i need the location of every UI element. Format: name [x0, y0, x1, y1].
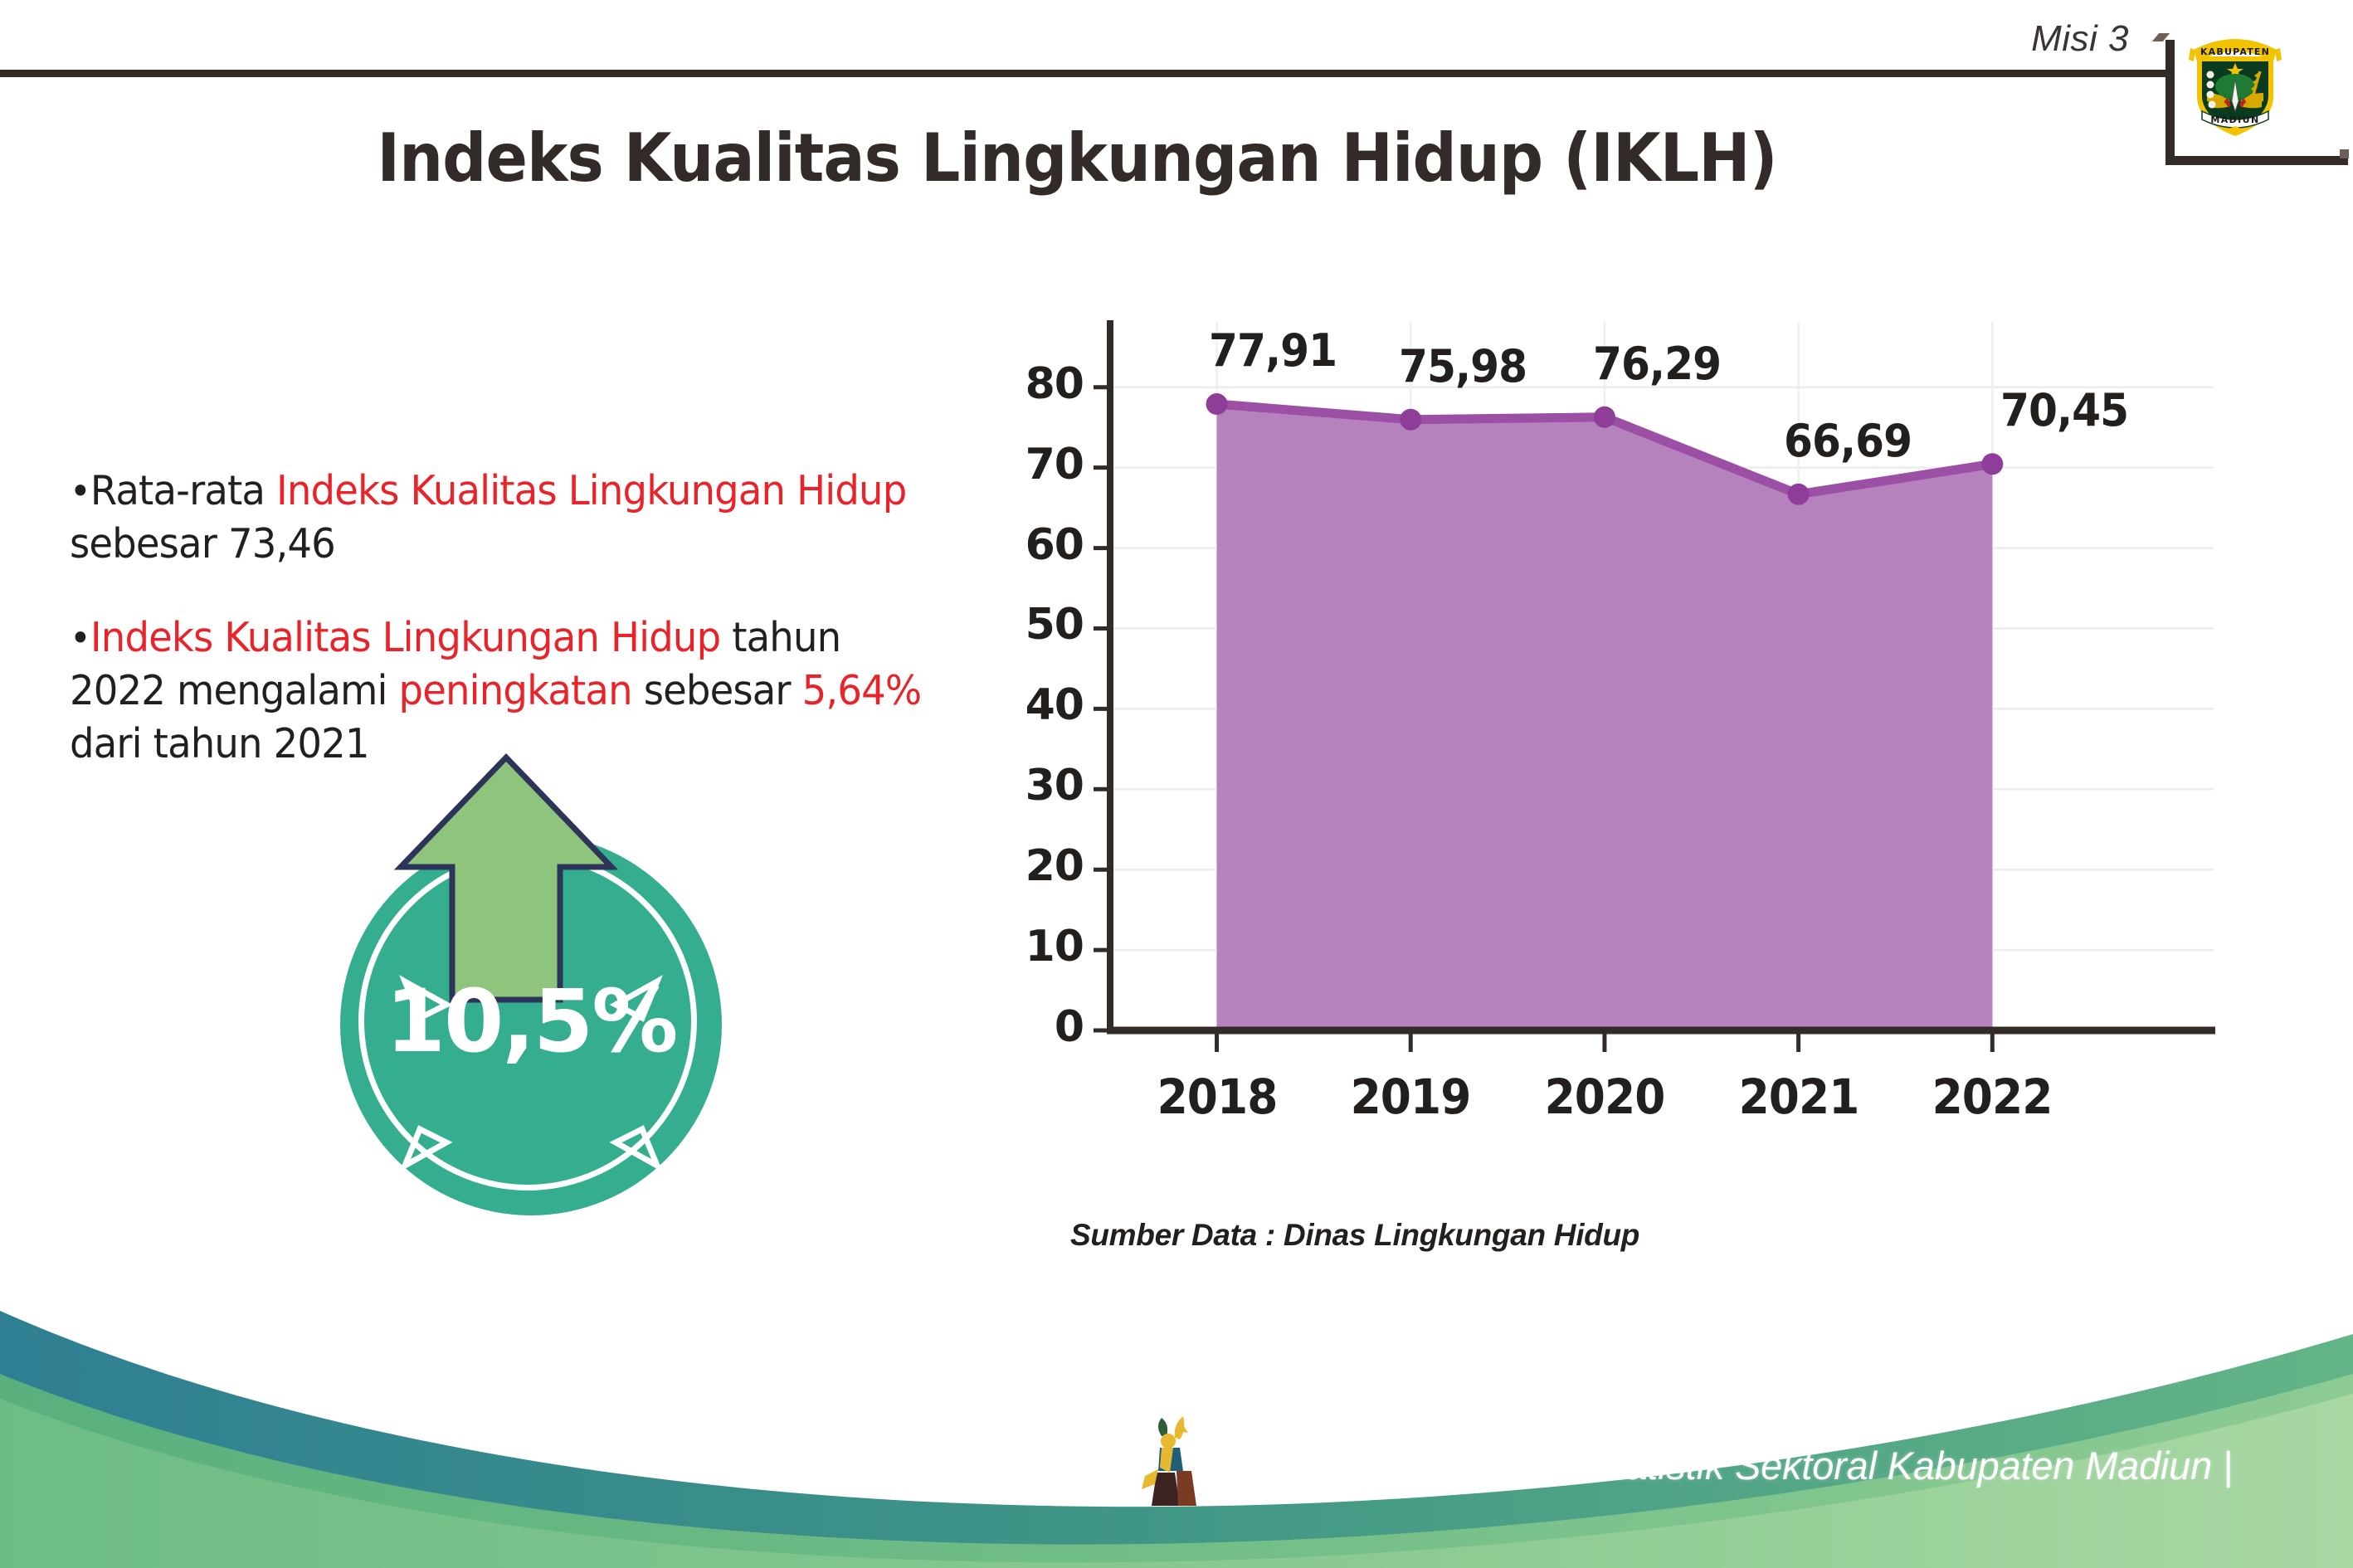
slide-canvas: Misi 3: [0, 0, 2353, 1568]
x-axis-tick-label: 2020: [1521, 1069, 1688, 1125]
bracket-vertical: [2165, 40, 2175, 164]
y-axis-tick-label: 50: [984, 600, 1084, 650]
bullet-item-2: •Indeks Kualitas Lingkungan Hidup tahun …: [70, 611, 945, 770]
bullet-text-segment: Rata-rata: [90, 467, 276, 514]
statistik-figure-logo-icon: [1137, 1408, 1213, 1512]
data-value-label: 75,98: [1399, 340, 1527, 392]
y-axis-tick-label: 80: [984, 359, 1084, 409]
x-axis-tick-label: 2021: [1714, 1069, 1882, 1125]
bullet-text-segment: sebesar 73,46: [70, 520, 335, 567]
y-axis-tick-label: 20: [984, 841, 1084, 891]
data-point-marker: [1594, 407, 1615, 428]
data-point-marker: [1788, 484, 1810, 505]
y-axis-tick-label: 70: [984, 440, 1084, 489]
y-axis-tick-label: 10: [984, 922, 1084, 971]
y-axis-tick-label: 40: [984, 680, 1084, 730]
x-axis-tick-label: 2018: [1133, 1069, 1300, 1125]
data-value-label: 77,91: [1209, 324, 1337, 377]
badge-value: 10,5%: [328, 971, 734, 1072]
source-note: Sumber Data : Dinas Lingkungan Hidup: [1070, 1218, 1639, 1253]
data-point-marker: [1400, 409, 1421, 431]
iklh-area-chart: 01020304050607080 20182019202020212022 7…: [962, 290, 2257, 1170]
bullet-marker: •: [70, 616, 90, 660]
y-axis-tick-label: 60: [984, 520, 1084, 570]
growth-badge: 10,5%: [328, 751, 759, 1215]
data-value-label: 76,29: [1593, 338, 1721, 390]
bracket-shadow-bottom: [2340, 149, 2349, 158]
bullet-text-segment: Indeks Kualitas Lingkungan Hidup: [90, 614, 720, 661]
bullet-marker: •: [70, 469, 90, 514]
y-axis-tick-label: 0: [984, 1002, 1084, 1052]
data-point-marker: [1981, 453, 2003, 475]
header-rule: [0, 70, 2170, 77]
bullet-text-segment: peningkatan: [399, 667, 632, 714]
svg-text:KABUPATEN: KABUPATEN: [2200, 46, 2270, 57]
data-value-label: 66,69: [1784, 415, 1912, 467]
x-axis-tick-label: 2022: [1908, 1069, 2076, 1125]
svg-text:MADIUN: MADIUN: [2210, 114, 2259, 125]
kabupaten-madiun-emblem-icon: MADIUN KABUPATEN: [2187, 25, 2283, 141]
footer-text: Media Infografis Data Statistik Sektoral…: [1211, 1443, 2233, 1488]
misi-label: Misi 3: [2031, 18, 2129, 60]
bracket-horizontal: [2165, 156, 2348, 165]
data-point-marker: [1206, 393, 1228, 415]
area-fill: [1217, 404, 1993, 1030]
footer-wave-band: Media Infografis Data Statistik Sektoral…: [0, 1294, 2353, 1568]
bullet-text-segment: sebesar: [632, 667, 802, 714]
page-title: Indeks Kualitas Lingkungan Hidup (IKLH): [76, 119, 2078, 197]
y-axis-tick-label: 30: [984, 761, 1084, 811]
data-value-label: 70,45: [2000, 384, 2128, 436]
x-axis-tick-label: 2019: [1327, 1069, 1494, 1125]
bullet-text-segment: dari tahun 2021: [70, 720, 369, 767]
bullet-text-segment: 5,64%: [802, 667, 922, 714]
bullet-text-segment: Indeks Kualitas Lingkungan Hidup: [276, 467, 906, 514]
bullet-item-1: •Rata-rata Indeks Kualitas Lingkungan Hi…: [70, 465, 945, 570]
